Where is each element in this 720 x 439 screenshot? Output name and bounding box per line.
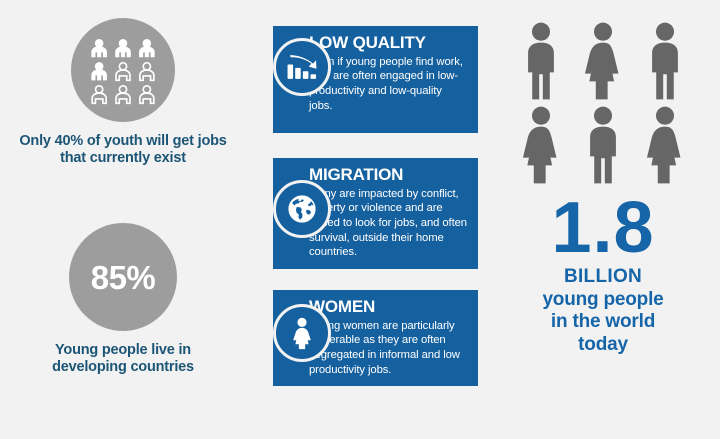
card-body: Many are impacted by conflict, poverty o… [309,187,468,260]
card-title: MIGRATION [309,166,468,185]
stat-youth-caption: Only 40% of youth will get jobs that cur… [18,133,228,167]
population-description-line-3: today [496,334,710,355]
card-body: Even if young people find work, they are… [309,55,468,114]
percentage-value: 85% [91,261,156,294]
population-number: 1.8 [496,194,710,263]
card-body: Young women are particularly vulnerable … [309,319,468,378]
card-migration[interactable]: MIGRATION Many are impacted by conflict,… [273,158,478,269]
male-figure-icon [515,22,567,102]
population-description-line-1: young people [496,289,710,310]
male-figure-icon [577,106,629,186]
cards-column: LOW QUALITY Even if young people find wo… [243,0,478,439]
left-stats-column: Only 40% of youth will get jobs that cur… [18,18,228,418]
card-title: WOMEN [309,298,468,317]
people-grid-icon [86,31,160,110]
percentage-circle: 85% [69,223,177,331]
globe-icon [273,180,331,238]
card-low-quality[interactable]: LOW QUALITY Even if young people find wo… [273,26,478,133]
people-figures-grid [503,22,703,186]
people-grid-circle [71,18,175,122]
female-figure-icon [577,22,629,102]
infographic-canvas: Only 40% of youth will get jobs that cur… [0,0,720,439]
card-women[interactable]: WOMEN Young women are particularly vulne… [273,290,478,386]
stat-developing-countries: 85% Young people live in developing coun… [18,223,228,376]
woman-icon [273,304,331,362]
population-unit: BILLION [496,267,710,288]
female-figure-icon [639,106,691,186]
male-figure-icon [639,22,691,102]
declining-bar-chart-icon [273,38,331,96]
card-title: LOW QUALITY [309,34,468,53]
stat-developing-caption: Young people live in developing countrie… [18,342,228,376]
female-figure-icon [515,106,567,186]
population-column: 1.8 BILLION young people in the world to… [496,22,710,355]
population-description-line-2: in the world [496,311,710,332]
stat-youth-jobs: Only 40% of youth will get jobs that cur… [18,18,228,167]
